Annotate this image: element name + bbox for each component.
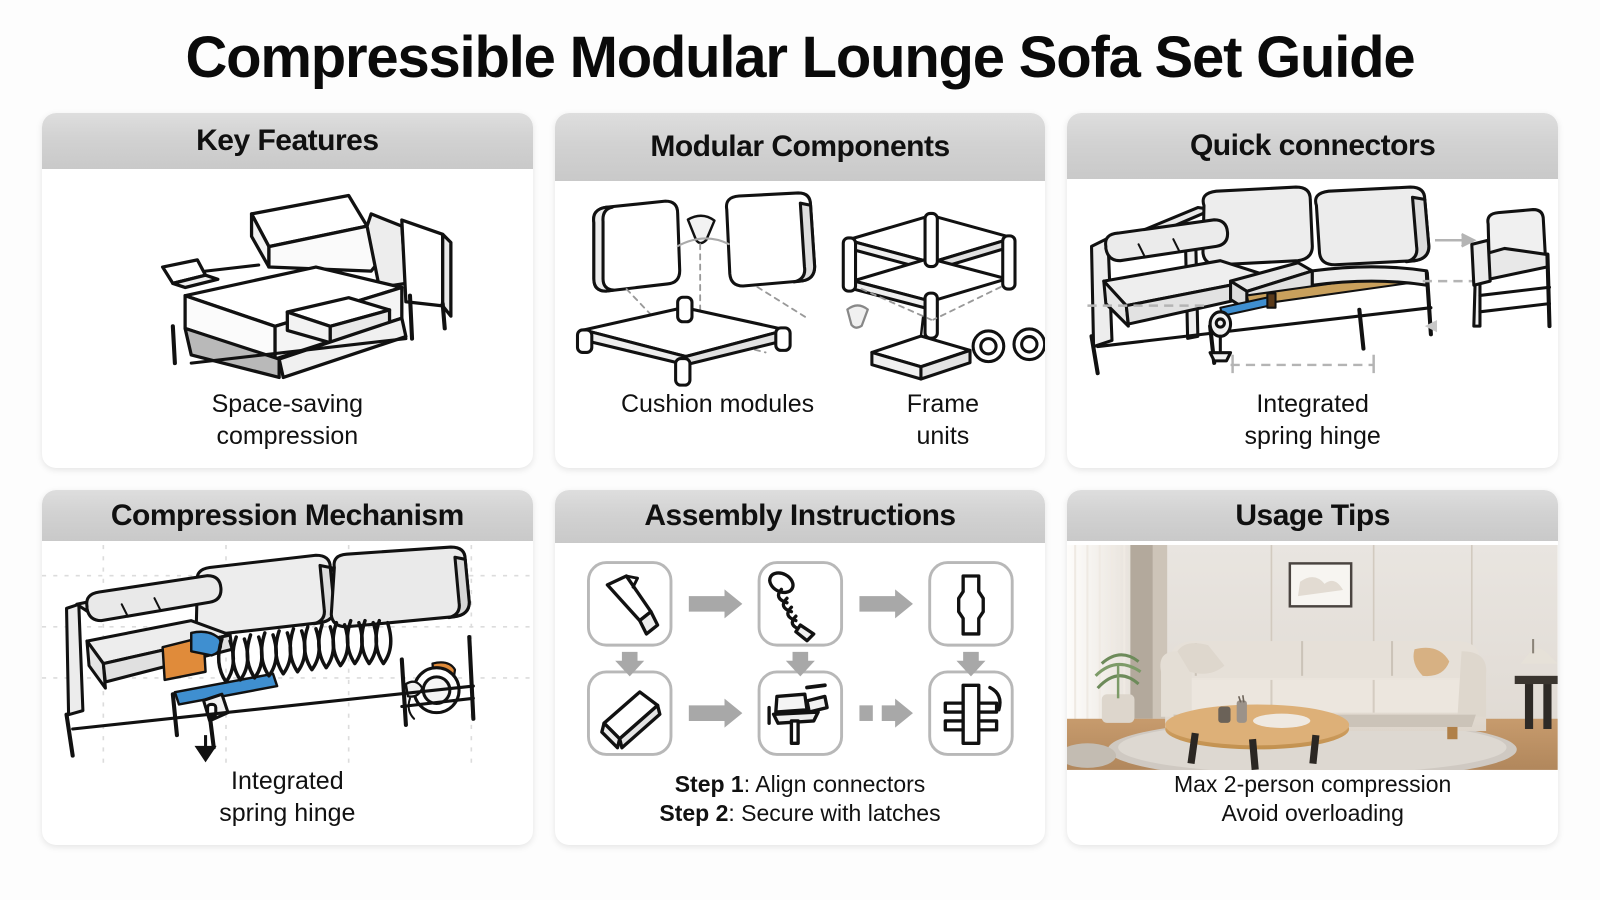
caption-line-1: Frame: [907, 388, 979, 420]
caption-line-2: spring hinge: [1245, 420, 1381, 452]
living-room-photo-wrap: [1067, 545, 1558, 770]
step-1-label: Step 1: [675, 771, 744, 797]
step-2-text: : Secure with latches: [728, 800, 940, 826]
sofa-coil-spring-line-art: [42, 545, 533, 765]
card-body-usage-tips: Max 2-person compression Avoid overloadi…: [1067, 541, 1558, 845]
card-caption: Max 2-person compression Avoid overloadi…: [1164, 770, 1461, 845]
card-caption: Space-saving compression: [202, 388, 373, 468]
caption-line-2: units: [907, 420, 979, 452]
step-1-text: : Align connectors: [744, 771, 926, 797]
exploded-components-line-art: [555, 185, 1046, 388]
card-title: Quick connectors: [1190, 129, 1435, 163]
card-body-quick-connectors: Integrated spring hinge: [1067, 179, 1558, 467]
card-header-modular-components: Modular Components: [555, 113, 1046, 181]
card-modular-components[interactable]: Modular Components: [555, 113, 1046, 468]
six-step-icon-flow: [555, 547, 1046, 770]
card-title: Assembly Instructions: [644, 499, 955, 533]
sectional-with-connector-line-art: [1067, 183, 1558, 387]
card-header-compression-mechanism: Compression Mechanism: [42, 490, 533, 541]
infographic-page: Compressible Modular Lounge Sofa Set Gui…: [0, 0, 1600, 900]
card-usage-tips[interactable]: Usage Tips: [1067, 490, 1558, 845]
step-line-2: Step 2: Secure with latches: [659, 799, 940, 828]
card-header-quick-connectors: Quick connectors: [1067, 113, 1558, 180]
caption-line-2: Avoid overloading: [1174, 799, 1451, 828]
page-title: Compressible Modular Lounge Sofa Set Gui…: [0, 0, 1600, 89]
step-line-1: Step 1: Align connectors: [659, 770, 940, 799]
caption-line-2: compression: [212, 420, 363, 452]
card-header-key-features: Key Features: [42, 113, 533, 169]
card-assembly-instructions[interactable]: Assembly Instructions: [555, 490, 1046, 845]
card-caption: Integrated spring hinge: [1235, 388, 1391, 468]
caption-cushion-modules: Cushion modules: [621, 388, 814, 452]
card-captions: Cushion modules Frame units: [555, 388, 1046, 468]
card-caption: Step 1: Align connectors Step 2: Secure …: [649, 770, 950, 845]
card-quick-connectors[interactable]: Quick connectors: [1067, 113, 1558, 468]
chaise-lounge-line-art: [42, 173, 533, 388]
card-body-key-features: Space-saving compression: [42, 169, 533, 468]
caption-line-1: Max 2-person compression: [1174, 770, 1451, 799]
caption-frame-units: Frame units: [907, 388, 979, 452]
card-header-usage-tips: Usage Tips: [1067, 490, 1558, 541]
card-title: Modular Components: [650, 130, 949, 164]
card-title: Usage Tips: [1235, 499, 1390, 533]
card-title: Key Features: [196, 124, 378, 158]
step-2-label: Step 2: [659, 800, 728, 826]
card-body-compression-mechanism: Integrated spring hinge: [42, 541, 533, 845]
card-body-assembly-instructions: Step 1: Align connectors Step 2: Secure …: [555, 543, 1046, 845]
card-key-features[interactable]: Key Features: [42, 113, 533, 468]
caption-line-1: Integrated: [1245, 388, 1381, 420]
living-room-sofa-photo: [1067, 545, 1558, 770]
caption-line-1: Integrated: [219, 765, 355, 797]
card-compression-mechanism[interactable]: Compression Mechanism: [42, 490, 533, 845]
card-title: Compression Mechanism: [111, 499, 464, 533]
card-body-modular-components: Cushion modules Frame units: [555, 181, 1046, 468]
card-header-assembly-instructions: Assembly Instructions: [555, 490, 1046, 543]
card-caption: Integrated spring hinge: [209, 765, 365, 845]
card-grid: Key Features: [0, 89, 1600, 845]
caption-line-2: spring hinge: [219, 797, 355, 829]
caption-line-1: Space-saving: [212, 388, 363, 420]
